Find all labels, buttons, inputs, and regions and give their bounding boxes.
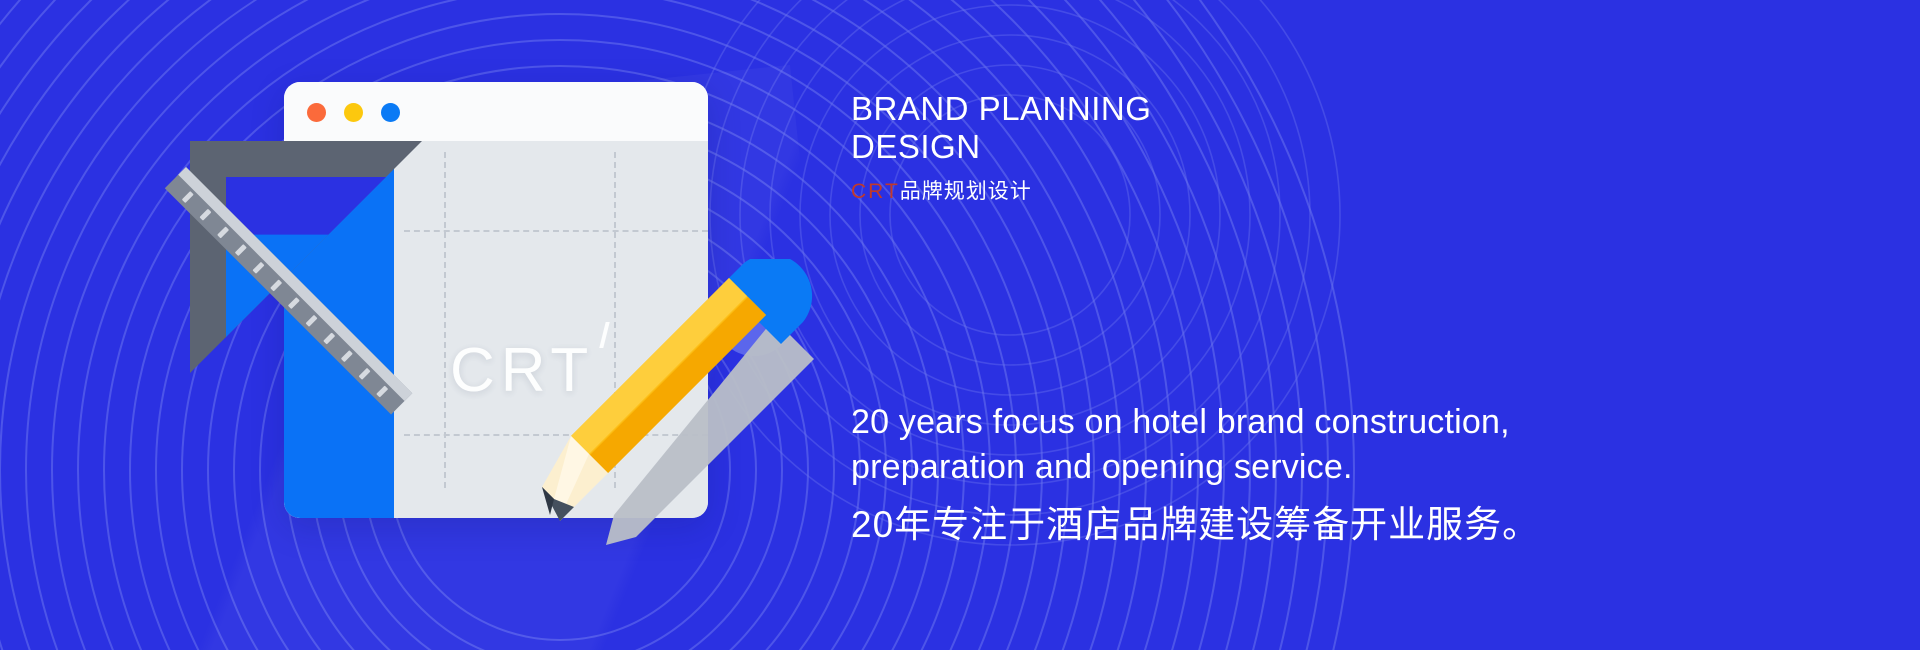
headline-block: BRAND PLANNING DESIGN CRT品牌规划设计 — [851, 90, 1371, 205]
page-title: BRAND PLANNING DESIGN — [851, 90, 1371, 167]
brand-banner: CRT — [0, 0, 1920, 650]
subtitle-text: 品牌规划设计 — [900, 180, 1032, 203]
subtitle-brand-mark: CRT — [851, 180, 900, 203]
window-titlebar — [284, 82, 708, 141]
hero-illustration: CRT — [232, 57, 772, 587]
subtitle: CRT品牌规划设计 — [851, 175, 1371, 205]
tagline-chinese: 20年专注于酒店品牌建设筹备开业服务。 — [851, 502, 1691, 548]
window-maximize-dot-icon[interactable] — [381, 103, 400, 122]
window-minimize-dot-icon[interactable] — [344, 103, 363, 122]
pencil-body — [532, 259, 832, 559]
window-close-dot-icon[interactable] — [307, 103, 326, 122]
pencil-icon — [532, 259, 832, 559]
tagline-block: 20 years focus on hotel brand constructi… — [851, 400, 1691, 548]
tagline-english: 20 years focus on hotel brand constructi… — [851, 400, 1691, 490]
set-square-ruler-icon — [190, 141, 460, 401]
